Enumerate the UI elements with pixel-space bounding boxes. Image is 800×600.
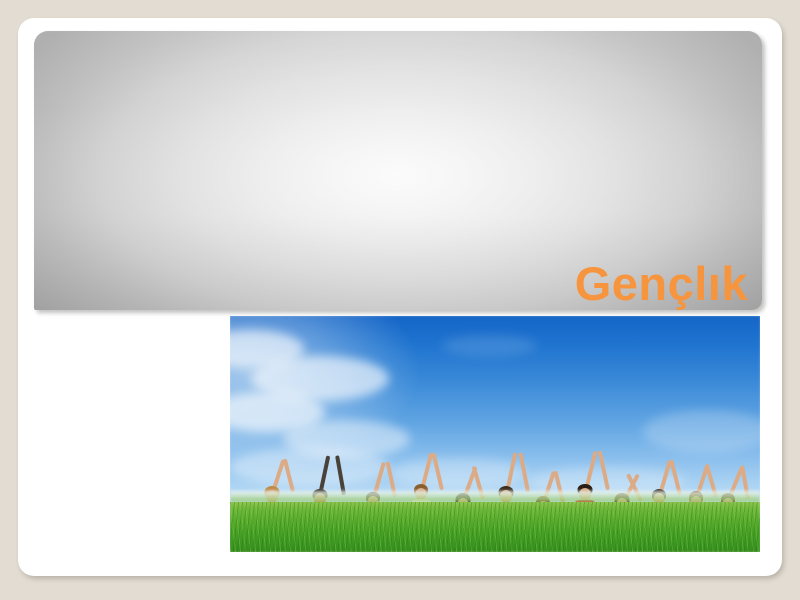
slide-canvas: Gençlık xyxy=(0,0,800,600)
title-banner: Gençlık xyxy=(34,31,762,310)
page-title: Gençlık xyxy=(575,259,748,308)
jumping-youth-photo xyxy=(230,316,760,552)
grass-field xyxy=(230,502,760,552)
cloud-icon xyxy=(230,448,389,486)
cloud-icon xyxy=(442,335,537,356)
cloud-icon xyxy=(643,410,760,452)
slide-page: Gençlık xyxy=(18,18,782,576)
horizon-line xyxy=(230,491,760,503)
